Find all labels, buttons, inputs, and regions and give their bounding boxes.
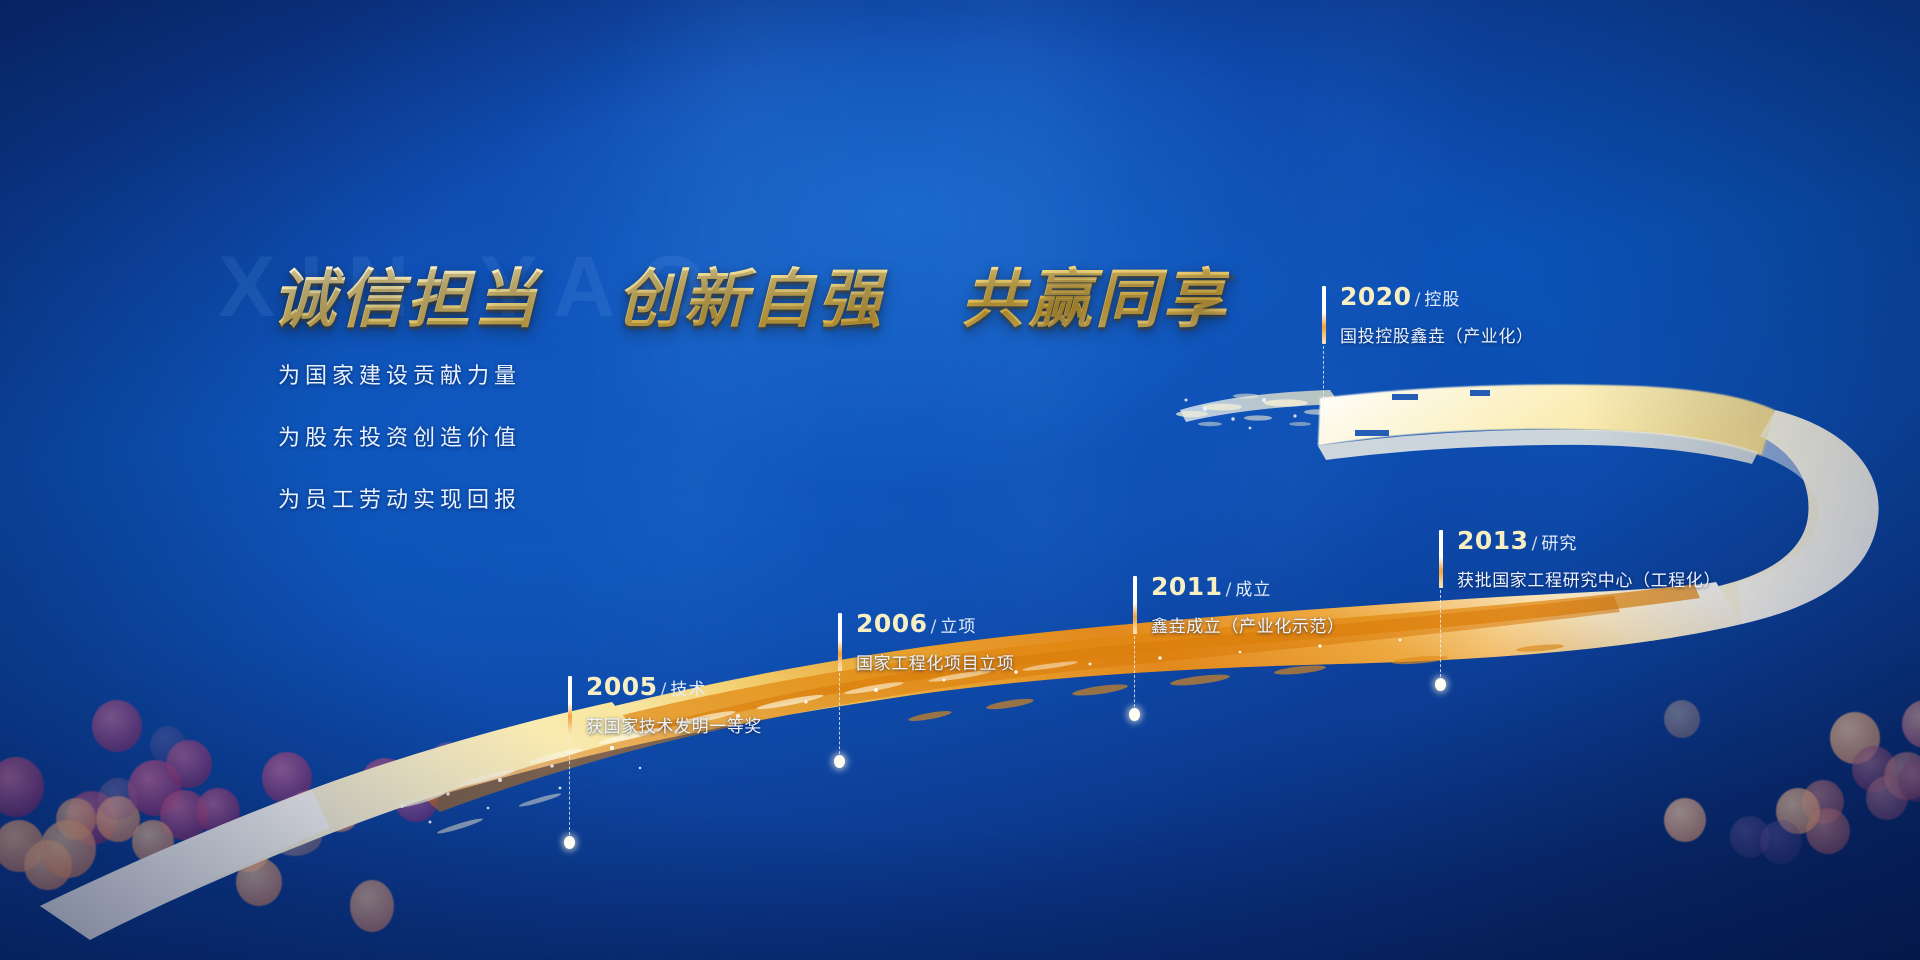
leader-line [839, 673, 840, 759]
separator: / [1529, 534, 1542, 554]
bokeh-circle [350, 880, 394, 932]
event-description: 国投控股鑫垚（产业化） [1340, 322, 1534, 347]
timeline-node-dot [564, 836, 575, 849]
headline-part-1: 诚信担当 [272, 248, 540, 340]
slogan-line: 为员工劳动实现回报 [278, 482, 521, 514]
event-description: 获批国家工程研究中心（工程化） [1457, 566, 1721, 591]
event-description: 国家工程化项目立项 [856, 649, 1014, 674]
marker-bar [1439, 530, 1443, 588]
event-tag: 成立 [1235, 580, 1271, 600]
slogan-list: 为国家建设贡献力量 为股东投资创造价值 为员工劳动实现回报 [278, 358, 521, 544]
leader-line [1134, 636, 1135, 712]
year-value: 2005 [586, 672, 658, 701]
event-tag: 立项 [940, 617, 976, 637]
marker-bar [568, 676, 572, 734]
year-value: 2013 [1457, 526, 1529, 555]
bokeh-circle [92, 700, 142, 752]
ribbon-left-flecks [394, 660, 1078, 836]
leader-line [1323, 346, 1324, 438]
ribbon-lower-arm [300, 582, 1742, 828]
bokeh-circle [394, 776, 438, 822]
marker-bar [1322, 286, 1326, 344]
bokeh-circle [1664, 700, 1700, 738]
bokeh-circle [236, 858, 282, 906]
year-value: 2006 [856, 609, 928, 638]
year-value: 2011 [1151, 572, 1223, 601]
separator: / [928, 617, 941, 637]
event-tag: 技术 [670, 680, 706, 700]
bokeh-circle [132, 820, 174, 864]
bokeh-circle [1760, 820, 1802, 864]
bokeh-circle [268, 818, 322, 856]
headline-part-3: 共赢同享 [961, 248, 1229, 340]
event-year: 2005/技术 [586, 672, 706, 701]
banner-canvas: XIN YAO 诚信担当 创新自强 共赢同享 为国家建设贡献力量 为股东投资创造… [0, 0, 1920, 960]
timeline-node-dot [1435, 678, 1446, 691]
bokeh-circle [1902, 700, 1920, 748]
event-year: 2020/控股 [1340, 282, 1460, 311]
ribbon-upper-arm [1318, 385, 1775, 457]
bokeh-circle [150, 726, 186, 764]
slogan-line: 为股东投资创造价值 [278, 420, 521, 452]
headline-part-2: 创新自强 [617, 248, 885, 340]
event-tag: 控股 [1424, 290, 1460, 310]
leader-line [1440, 590, 1441, 682]
event-year: 2011/成立 [1151, 572, 1271, 601]
timeline-node-dot [1129, 708, 1140, 721]
bokeh-circle [40, 820, 96, 878]
event-tag: 研究 [1541, 534, 1577, 554]
separator: / [1223, 580, 1236, 600]
event-year: 2013/研究 [1457, 526, 1577, 555]
timeline-node-dot [834, 755, 845, 768]
event-year: 2006/立项 [856, 609, 976, 638]
slogan-line: 为国家建设贡献力量 [278, 358, 521, 390]
marker-bar [1133, 576, 1137, 634]
leader-line [569, 736, 570, 840]
event-description: 获国家技术发明一等奖 [586, 712, 762, 737]
ribbon-upper-spray [1176, 390, 1420, 429]
bokeh-circle [0, 757, 44, 817]
bokeh-circle [98, 778, 138, 820]
separator: / [658, 680, 671, 700]
bokeh-circle [196, 788, 240, 834]
bokeh-circle [1664, 798, 1706, 842]
year-value: 2020 [1340, 282, 1412, 311]
separator: / [1412, 290, 1425, 310]
event-description: 鑫垚成立（产业化示范） [1151, 612, 1345, 637]
bokeh-circle [428, 742, 470, 786]
bokeh-circle [320, 790, 360, 832]
ribbon-bend [1710, 410, 1879, 624]
marker-bar [838, 613, 842, 671]
page-title: 诚信担当 创新自强 共赢同享 [272, 248, 1229, 340]
